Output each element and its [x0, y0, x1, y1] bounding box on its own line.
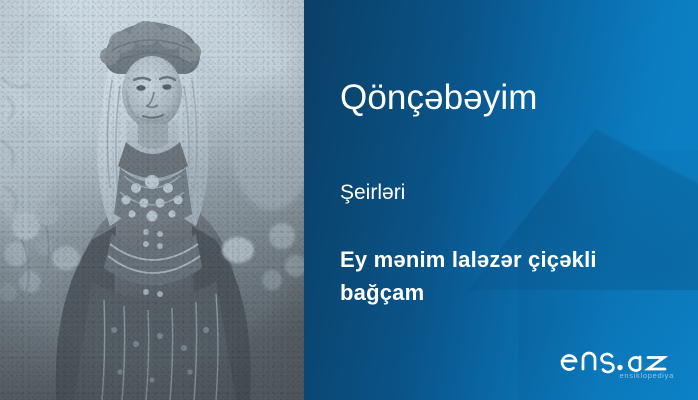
logo-tagline: ensiklopediya [619, 371, 674, 380]
portrait-photograph [0, 0, 304, 400]
portrait-photograph-artwork [0, 0, 304, 400]
section-subtitle: Şeirləri [340, 180, 405, 205]
ens-az-logo-mark: ensiklopediya [558, 342, 676, 382]
site-logo[interactable]: ensiklopediya [558, 342, 676, 382]
poem-title: Ey mənim laləzər çiçəkli bağçam [340, 244, 660, 309]
page-title: Qönçəbəyim [340, 79, 537, 118]
info-panel: Qönçəbəyim Şeirləri Ey mənim laləzər çiç… [304, 0, 698, 400]
text-block: Qönçəbəyim Şeirləri Ey mənim laləzər çiç… [340, 0, 682, 400]
media-card: Qönçəbəyim Şeirləri Ey mənim laləzər çiç… [0, 0, 698, 400]
